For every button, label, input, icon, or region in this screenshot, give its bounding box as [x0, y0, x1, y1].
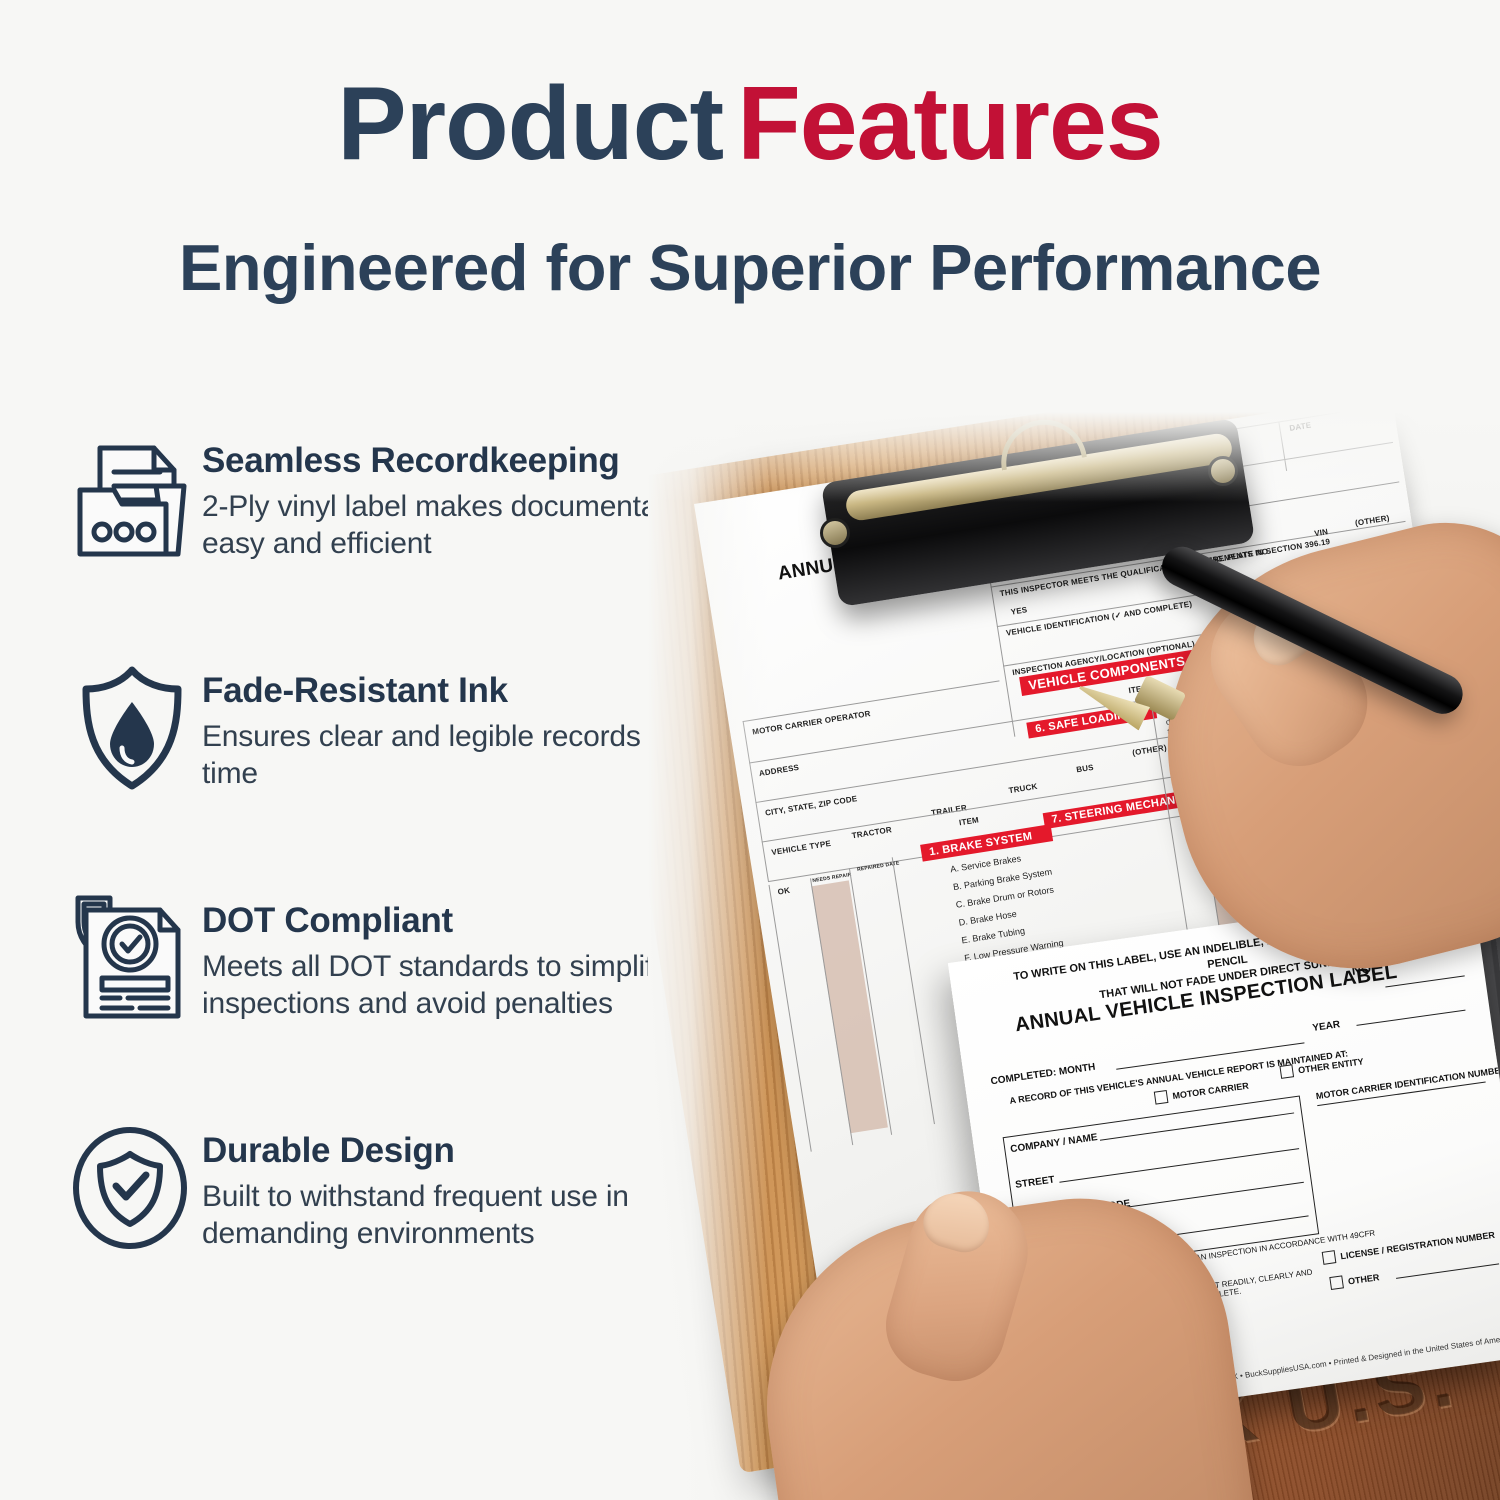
photo-scene: BUCK U.S. ANNUAL VEHICLE INSPECTION REPO…: [648, 412, 1500, 1500]
form-vehicle-type-other: (OTHER): [1132, 743, 1168, 757]
label-motor-carrier-checkbox[interactable]: [1154, 1090, 1169, 1105]
form-vehicle-type-bus: BUS: [1076, 763, 1095, 775]
document-check-shield-icon: [62, 884, 202, 1034]
label-other-text: OTHER: [1347, 1272, 1380, 1286]
circle-shield-check-icon: [62, 1114, 202, 1264]
form-rule: [1278, 421, 1287, 471]
form-date-label: DATE: [1289, 421, 1312, 433]
document-folder-icon: [62, 424, 202, 574]
form-vehicle-type-label: VEHICLE TYPE: [771, 839, 832, 857]
form-col-ok: OK: [777, 886, 791, 897]
form-item-1e: E. Brake Tubing: [961, 926, 1026, 946]
shield-droplet-icon: [62, 654, 202, 804]
form-rule: [755, 733, 1190, 803]
form-section-1: 1. BRAKE SYSTEM: [920, 824, 1053, 861]
form-vehicle-id-label: VEHICLE IDENTIFICATION (✓ AND COMPLETE): [1005, 599, 1192, 637]
page-title-part-2: Features: [737, 66, 1163, 182]
label-other-entity-checkbox[interactable]: [1279, 1064, 1294, 1079]
form-yes-label: YES: [1010, 605, 1028, 616]
clipboard-clip-pivot-left: [820, 518, 850, 548]
page-subtitle: Engineered for Superior Performance: [0, 234, 1500, 302]
form-item-1a: A. Service Brakes: [950, 853, 1022, 874]
page-header: ProductFeatures Engineered for Superior …: [0, 0, 1500, 302]
page-title: ProductFeatures: [0, 72, 1500, 176]
label-year: YEAR: [1312, 1019, 1341, 1034]
clipboard-clip-pivot-right: [1208, 456, 1238, 486]
label-motor-carrier-text: MOTOR CARRIER: [1172, 1081, 1249, 1102]
form-motor-carrier-label: MOTOR CARRIER OPERATOR: [752, 709, 871, 737]
form-shade-col: [811, 880, 888, 1133]
label-other-checkbox[interactable]: [1329, 1275, 1344, 1290]
form-item-1d: D. Brake Hose: [958, 909, 1017, 928]
form-rule: [892, 857, 935, 1124]
form-col-item-left: ITEM: [958, 815, 979, 827]
label-license-checkbox[interactable]: [1322, 1250, 1337, 1265]
form-address-label: ADDRESS: [758, 763, 799, 778]
form-vehicle-type-truck: TRUCK: [1008, 782, 1038, 795]
page-title-part-1: Product: [337, 66, 723, 182]
label-rule: [1396, 1263, 1499, 1278]
product-photo: BUCK U.S. ANNUAL VEHICLE INSPECTION REPO…: [648, 412, 1500, 1500]
label-rule: [1356, 1010, 1465, 1026]
label-completed-month: COMPLETED: MONTH: [990, 1062, 1096, 1088]
